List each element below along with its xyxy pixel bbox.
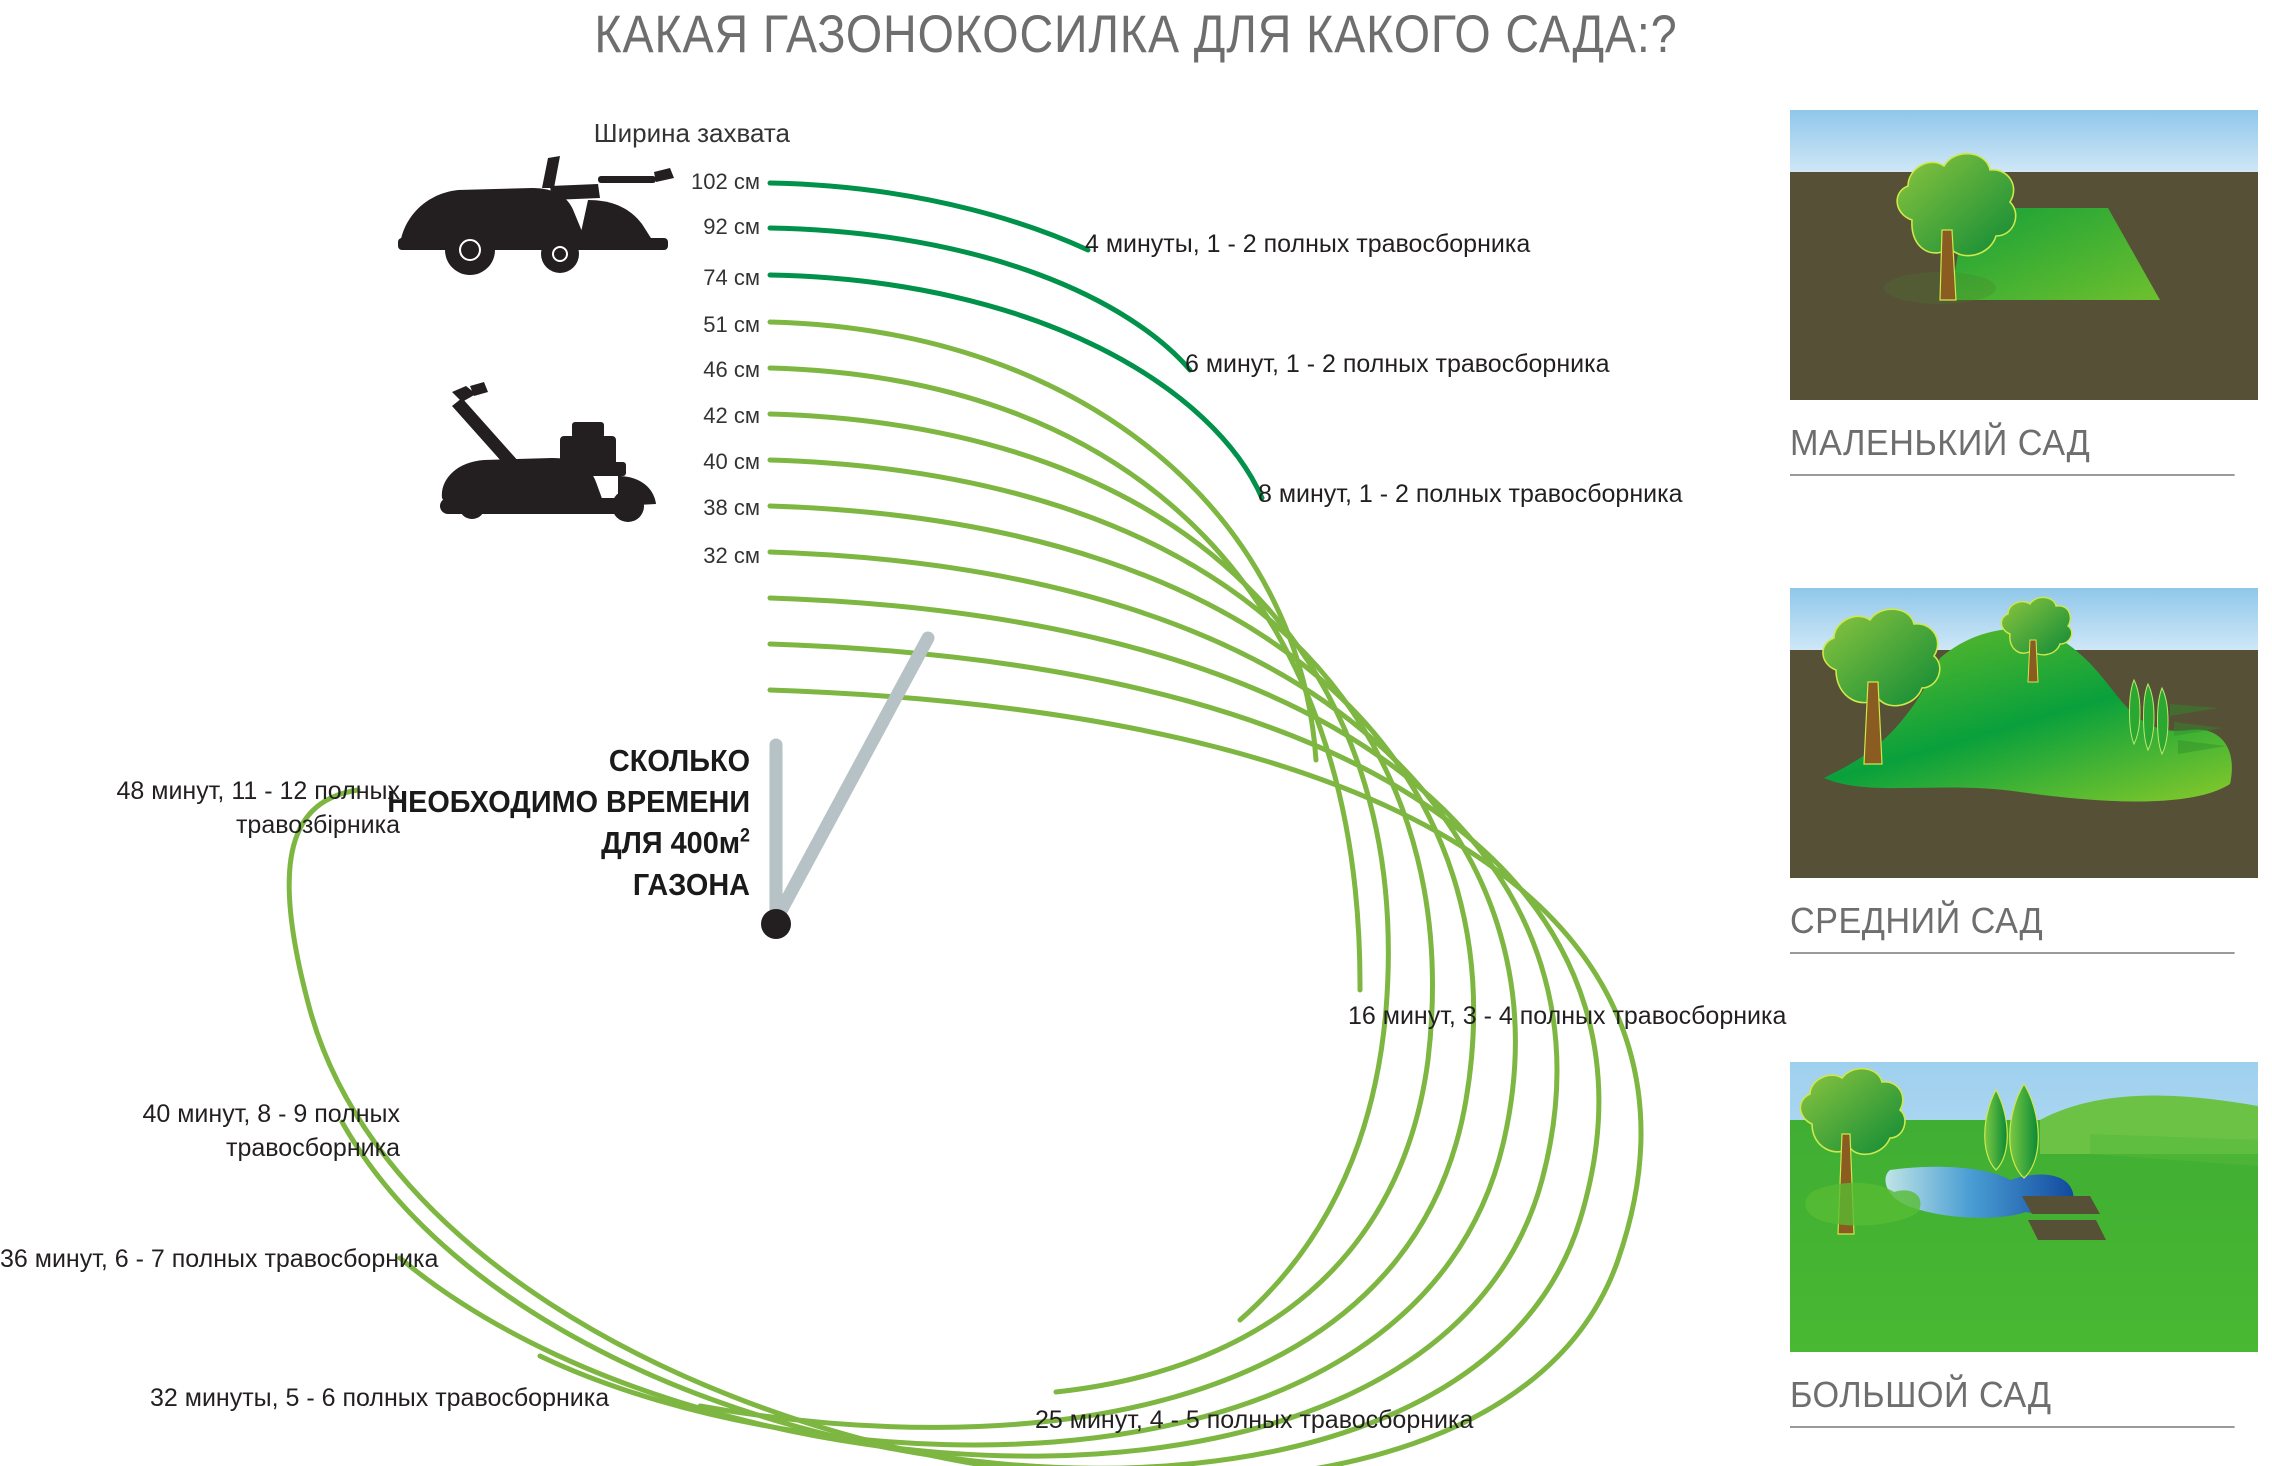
callout-16-minutes: 16 минут, 3 - 4 полных травосборника: [1348, 1000, 1786, 1034]
center-line-3: ДЛЯ 400м2: [387, 822, 750, 863]
center-line-4: ГАЗОНА: [387, 864, 750, 905]
callout-40-minutes: 40 минут, 8 - 9 полных травосборника: [0, 1098, 400, 1166]
callout-25-minutes: 25 минут, 4 - 5 полных травосборника: [1035, 1404, 1473, 1438]
callout-4-minutes: 4 минуты, 1 - 2 полных травосборника: [1085, 228, 1530, 262]
callout-32-minutes: 32 минуты, 5 - 6 полных травосборника: [150, 1382, 609, 1416]
tree-trunk-top: [2028, 640, 2038, 682]
panel-medium-garden-label: СРЕДНИЙ САД: [1790, 900, 2235, 954]
panel-large-garden: БОЛЬШОЙ САД: [1790, 1062, 2258, 1428]
arc-46cm: [770, 368, 1360, 990]
arc-102cm: [770, 183, 1088, 250]
medium-garden-illustration: [1790, 588, 2258, 878]
callout-40-line-2: травосборника: [0, 1132, 400, 1166]
panel-small-garden-label: МАЛЕНЬКИЙ САД: [1790, 422, 2235, 476]
panel-medium-garden: СРЕДНИЙ САД: [1790, 588, 2258, 954]
small-garden-illustration: [1790, 110, 2258, 400]
arc-42cm: [770, 414, 1388, 1320]
panel-large-garden-label: БОЛЬШОЙ САД: [1790, 1374, 2235, 1428]
callout-36-minutes: 36 минут, 6 - 7 полных травосборника: [0, 1243, 438, 1277]
callout-40-line-1: 40 минут, 8 - 9 полных: [0, 1098, 400, 1132]
pointer-diagonal: [776, 638, 928, 920]
callout-48-minutes: 48 минут, 11 - 12 полных травозбірника: [0, 775, 400, 843]
panel-small-garden: МАЛЕНЬКИЙ САД: [1790, 110, 2258, 476]
callout-6-minutes: 6 минут, 1 - 2 полных травосборника: [1185, 348, 1610, 382]
callout-8-minutes: 8 минут, 1 - 2 полных травосборника: [1258, 478, 1683, 512]
pivot-dot: [761, 909, 791, 939]
center-line-3-sup: 2: [740, 826, 750, 847]
arc-32cm: [540, 552, 1515, 1445]
center-line-2: НЕОБХОДИМО ВРЕМЕНИ: [387, 781, 750, 822]
large-garden-illustration: [1790, 1062, 2258, 1352]
callout-48-line-2: травозбірника: [0, 809, 400, 843]
center-line-3-text: ДЛЯ 400м: [601, 825, 740, 860]
center-question-block: СКОЛЬКО НЕОБХОДИМО ВРЕМЕНИ ДЛЯ 400м2 ГАЗ…: [387, 740, 750, 905]
callout-48-line-1: 48 минут, 11 - 12 полных: [0, 775, 400, 809]
center-line-1: СКОЛЬКО: [387, 740, 750, 781]
